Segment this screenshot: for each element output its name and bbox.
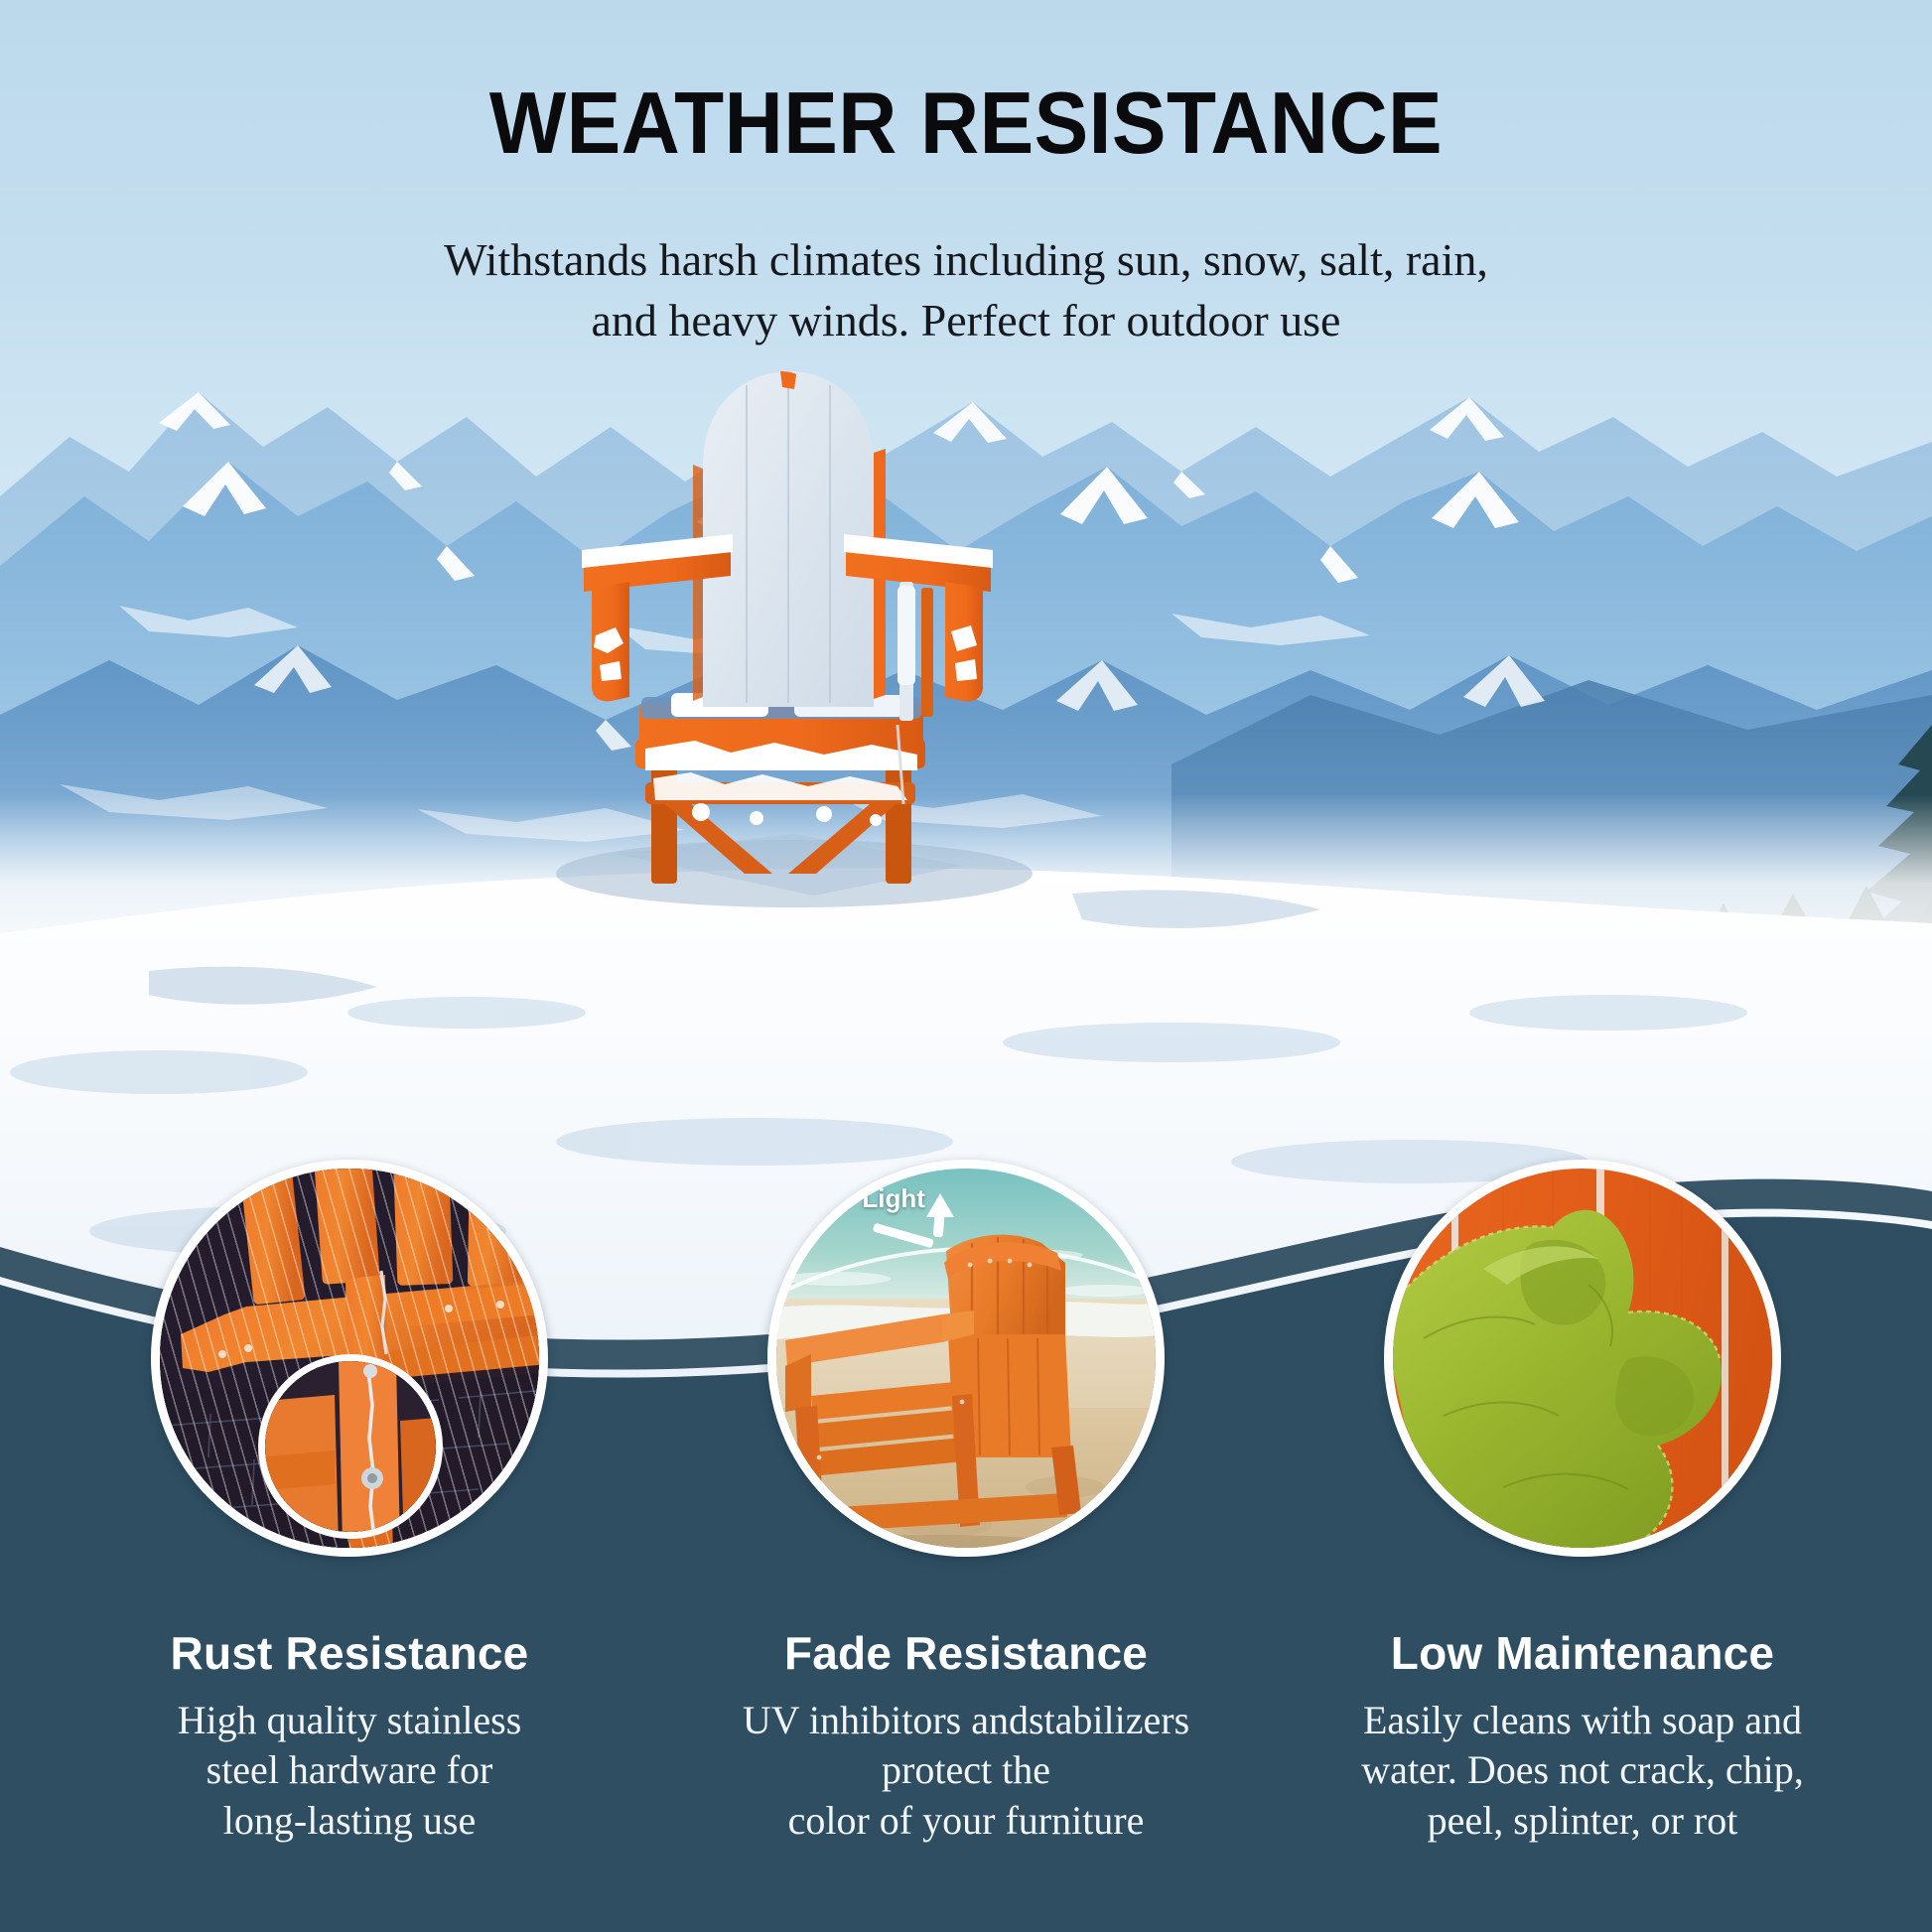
infographic-canvas: WEATHER RESISTANCE Withstands harsh clim… — [0, 0, 1932, 1932]
page-title: WEATHER RESISTANCE — [68, 77, 1864, 169]
feature-body-line-1: High quality stainless — [178, 1698, 522, 1742]
feature-body: UV inhibitors andstabilizers protect the… — [658, 1696, 1274, 1846]
feature-body: High quality stainless steel hardware fo… — [42, 1696, 657, 1846]
subtitle-line-2: and heavy winds. Perfect for outdoor use — [0, 291, 1932, 351]
feature-title: Fade Resistance — [658, 1626, 1274, 1680]
uv-light-label: UV Light — [819, 1183, 925, 1214]
feature-title: Low Maintenance — [1275, 1626, 1890, 1680]
hero-chair-image — [496, 338, 1052, 913]
page-subtitle: Withstands harsh climates including sun,… — [0, 230, 1932, 350]
subtitle-line-1: Withstands harsh climates including sun,… — [0, 230, 1932, 291]
feature-card-fade-resistance: Fade Resistance UV inhibitors andstabili… — [658, 1626, 1274, 1846]
feature-body: Easily cleans with soap and water. Does … — [1275, 1696, 1890, 1846]
feature-card-rust-resistance: Rust Resistance High quality stainless s… — [42, 1626, 657, 1846]
feature-card-low-maintenance: Low Maintenance Easily cleans with soap … — [1275, 1626, 1890, 1846]
feature-body-line-1: Easily cleans with soap and — [1363, 1698, 1802, 1742]
feature-image-rust-resistance[interactable] — [151, 1160, 548, 1557]
feature-body-line-3: peel, splinter, or rot — [1428, 1798, 1738, 1843]
feature-body-line-3: color of your furniture — [788, 1798, 1145, 1843]
feature-body-line-1: UV inhibitors andstabilizers — [743, 1698, 1189, 1742]
feature-image-fade-resistance[interactable]: UV Light — [767, 1160, 1165, 1557]
rust-detail-inset — [258, 1354, 443, 1539]
feature-body-line-2: steel hardware for — [207, 1747, 493, 1792]
feature-body-line-3: long-lasting use — [223, 1798, 476, 1843]
feature-body-line-2: water. Does not crack, chip, — [1361, 1747, 1803, 1792]
feature-body-line-2: protect the — [882, 1747, 1050, 1792]
feature-title: Rust Resistance — [42, 1626, 657, 1680]
feature-image-low-maintenance[interactable] — [1384, 1160, 1781, 1557]
